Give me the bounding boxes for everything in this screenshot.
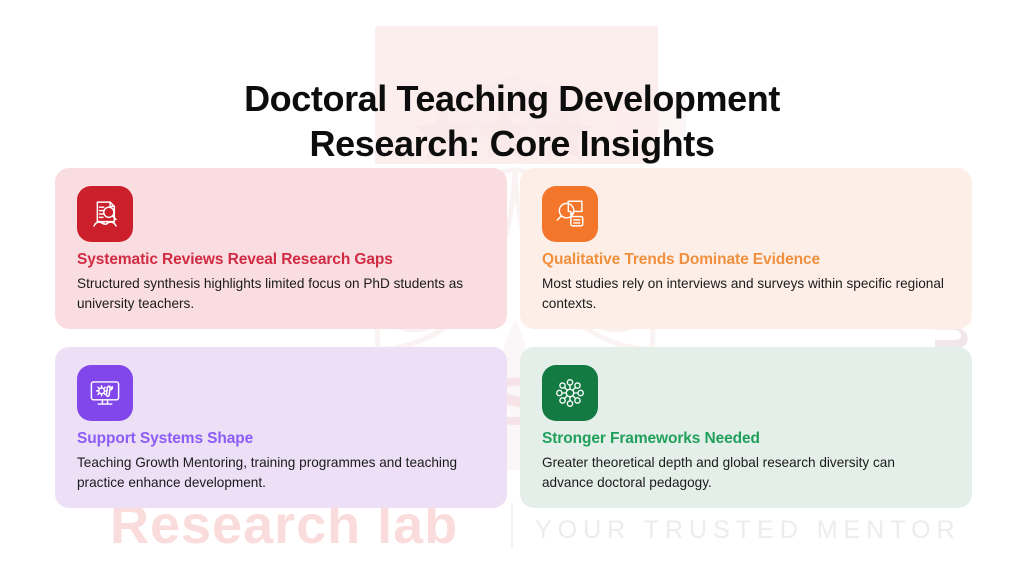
- insight-card: Support Systems Shape Teaching Growth Me…: [55, 347, 507, 508]
- page-title-line-1: Doctoral Teaching Development: [0, 76, 1024, 121]
- card-heading: Support Systems Shape: [77, 430, 485, 449]
- card-body-text: Teaching Growth Mentoring, training prog…: [77, 453, 485, 493]
- insight-card-grid: Systematic Reviews Reveal Research Gaps …: [55, 168, 972, 508]
- card-icon-badge: [542, 365, 598, 421]
- card-body-text: Greater theoretical depth and global res…: [542, 453, 950, 493]
- card-body-text: Structured synthesis highlights limited …: [77, 274, 485, 314]
- page-title: Doctoral Teaching Development Research: …: [0, 76, 1024, 167]
- monitor-gear-wrench-icon: [88, 376, 122, 410]
- infographic-canvas: PhD Assistance Research lab .com YOUR TR…: [0, 0, 1024, 576]
- watermark-tagline: YOUR TRUSTED MENTOR: [535, 516, 961, 545]
- insight-card: Stronger Frameworks Needed Greater theor…: [520, 347, 972, 508]
- card-icon-badge: [77, 186, 133, 242]
- insight-card: Qualitative Trends Dominate Evidence Mos…: [520, 168, 972, 329]
- card-heading: Systematic Reviews Reveal Research Gaps: [77, 251, 485, 270]
- page-title-line-2: Research: Core Insights: [0, 121, 1024, 166]
- card-icon-badge: [77, 365, 133, 421]
- card-body-text: Most studies rely on interviews and surv…: [542, 274, 950, 314]
- gear-network-icon: [553, 376, 587, 410]
- card-icon-badge: [542, 186, 598, 242]
- magnifier-chat-icon: [553, 197, 587, 231]
- watermark-divider: [511, 503, 513, 549]
- insight-card: Systematic Reviews Reveal Research Gaps …: [55, 168, 507, 329]
- card-heading: Qualitative Trends Dominate Evidence: [542, 251, 950, 270]
- card-heading: Stronger Frameworks Needed: [542, 430, 950, 449]
- document-magnifier-icon: [88, 197, 122, 231]
